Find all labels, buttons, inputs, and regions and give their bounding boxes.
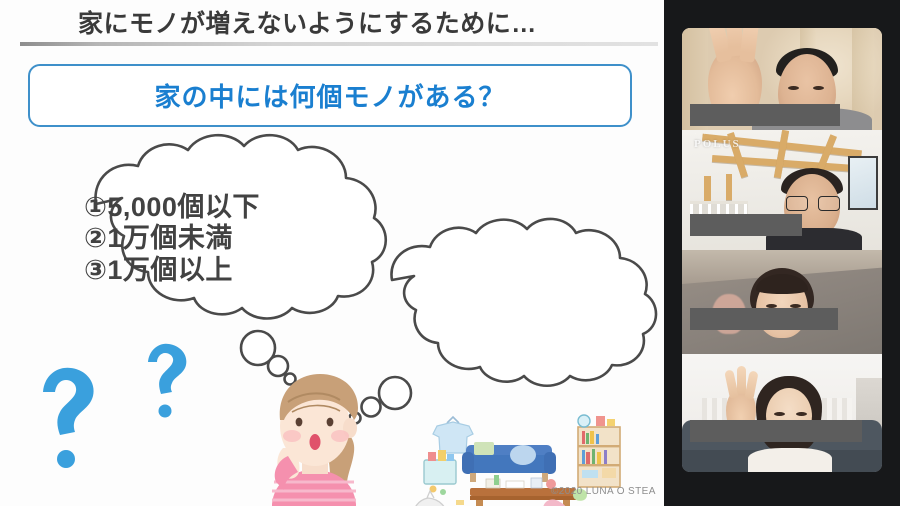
name-label-redaction-4 xyxy=(690,420,862,442)
participant-tile-3-active-speaker[interactable] xyxy=(682,250,882,354)
participant-video-3 xyxy=(682,250,882,354)
name-label-redaction-3 xyxy=(690,308,838,330)
choice-item-1: ①5,000個以下 xyxy=(84,192,260,223)
room-cloud-tail xyxy=(350,377,412,424)
question-callout-box: 家の中には何個モノがある？ xyxy=(28,64,632,127)
girl-thinking-character xyxy=(272,374,358,506)
slide-canvas: 家にモノが増えないようにするために… 家の中には何個モノがある？ xyxy=(0,0,664,506)
question-callout-text: 家の中には何個モノがある？ xyxy=(154,77,505,114)
polus-watermark-sub: ・・・・・ xyxy=(694,132,717,137)
eyeglasses-icon xyxy=(786,196,838,209)
slide-illustration xyxy=(0,130,664,506)
presentation-screen-share: 家にモノが増えないようにするために… 家の中には何個モノがある？ xyxy=(0,0,900,506)
toy-box xyxy=(424,450,456,495)
copyright-notice: ©2020 LUNA O STEA xyxy=(551,486,656,497)
bookshelf xyxy=(578,415,620,487)
participant-tile-2[interactable]: ・・・・・ POLUS xyxy=(682,130,882,250)
choices-cloud-tail xyxy=(241,331,296,385)
question-mark-large-icon xyxy=(43,368,94,468)
choice-item-3: ③1万個以上 xyxy=(84,255,260,286)
polus-watermark: POLUS xyxy=(694,138,741,150)
choices-list: ①5,000個以下 ②1万個未満 ③1万個以上 xyxy=(84,192,260,286)
question-mark-small-icon xyxy=(148,344,186,418)
page-title: 家にモノが増えないようにするために… xyxy=(78,4,537,40)
name-label-redaction-1 xyxy=(690,104,840,126)
choice-item-2: ②1万個未満 xyxy=(84,223,260,254)
participant-tile-4[interactable] xyxy=(682,354,882,472)
participant-video-4 xyxy=(682,354,882,472)
room-thought-cloud xyxy=(391,219,656,386)
name-label-redaction-2 xyxy=(690,214,802,236)
sofa xyxy=(462,442,556,482)
video-participants-panel: ・・・・・ POLUS xyxy=(664,0,900,506)
title-divider xyxy=(20,42,658,46)
participant-tile-1[interactable] xyxy=(682,28,882,130)
